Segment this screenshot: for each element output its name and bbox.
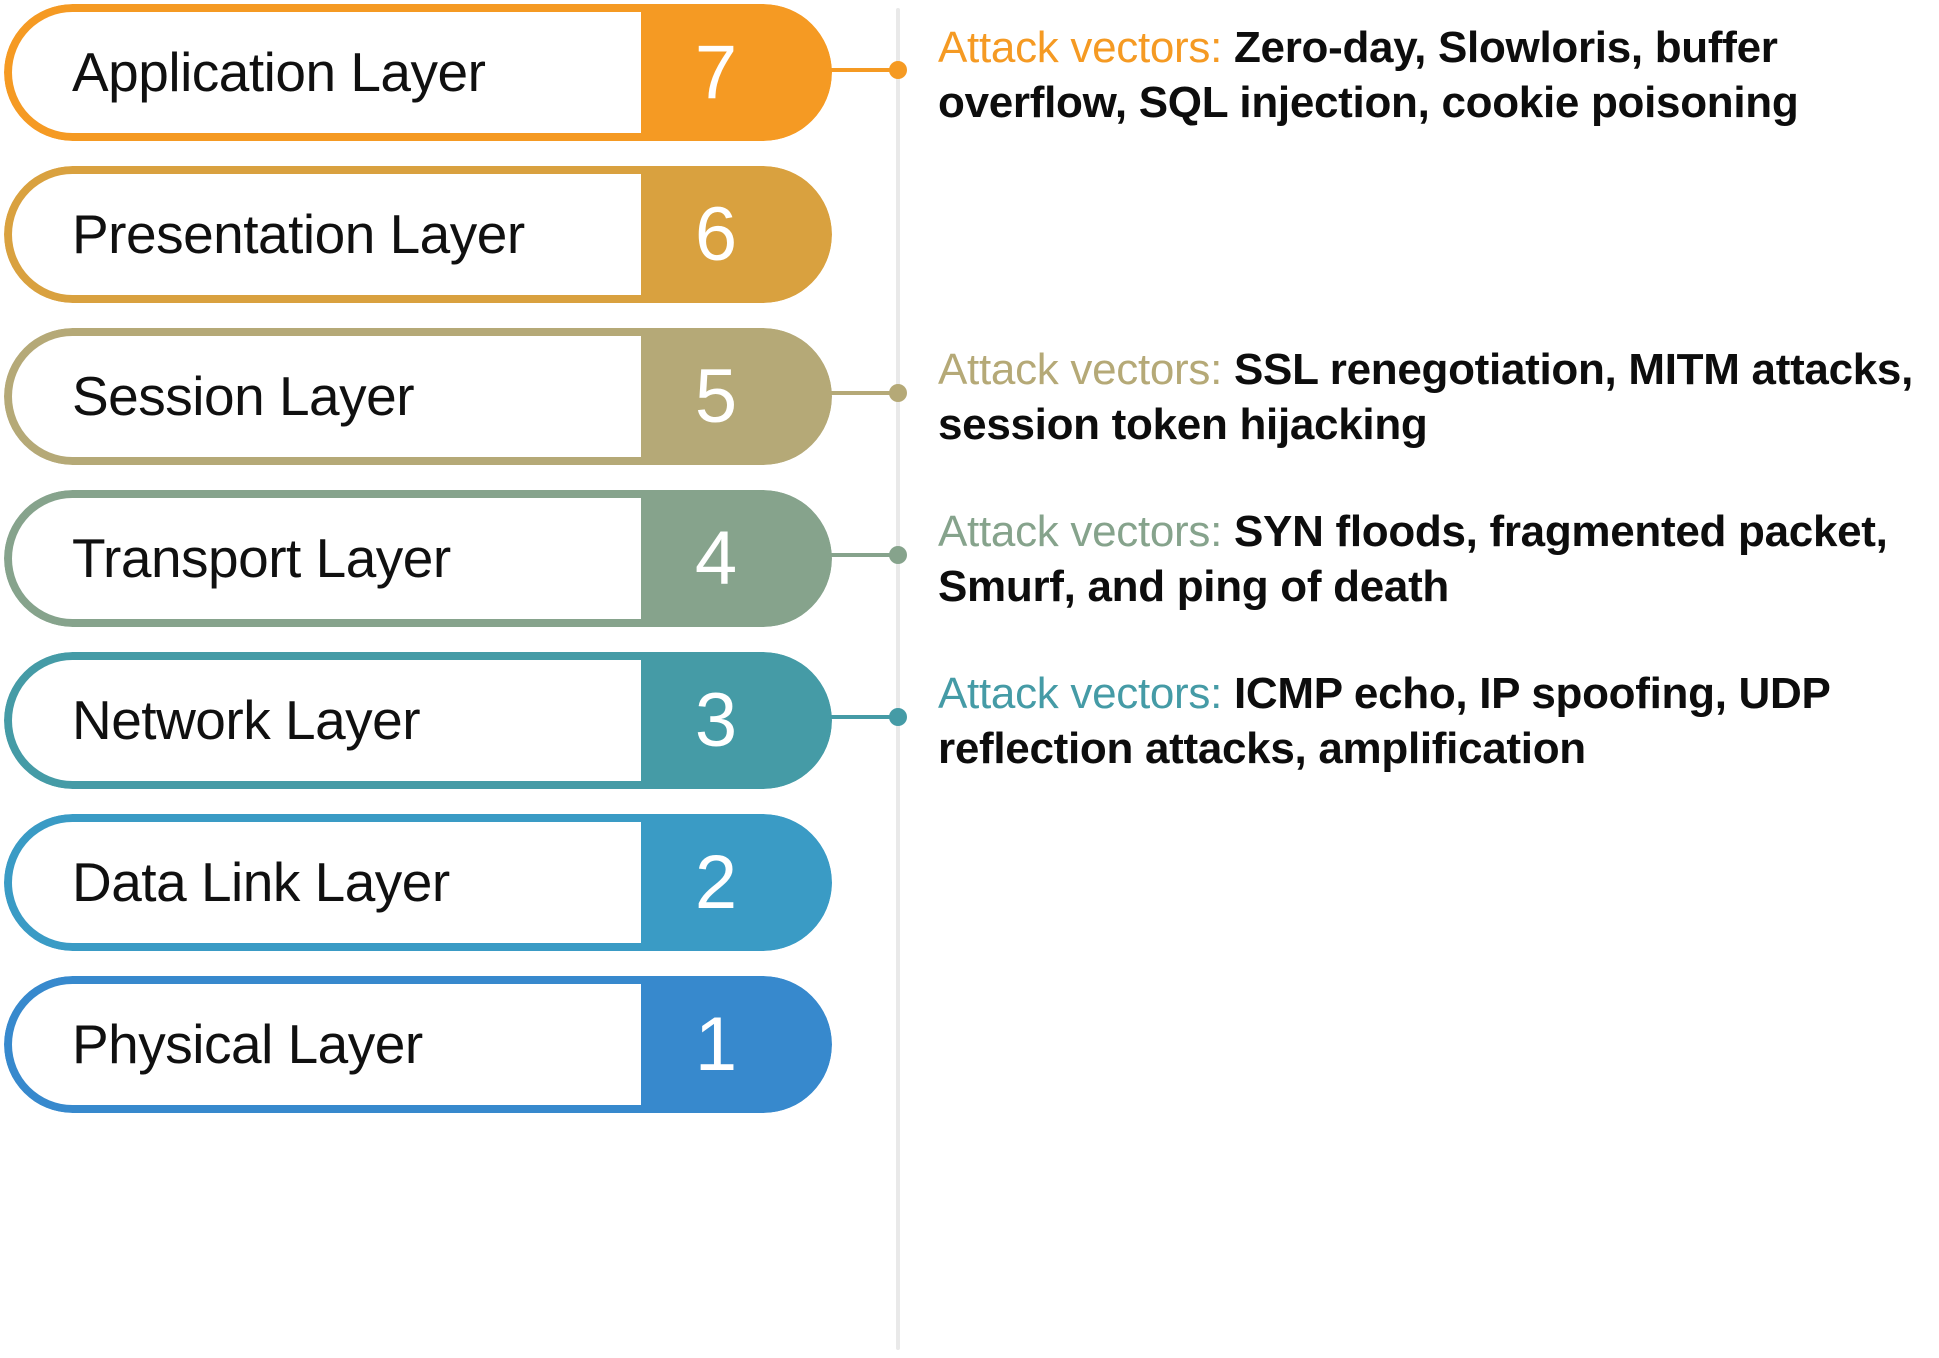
attack-vectors-label: Attack vectors: (938, 23, 1222, 72)
connector-network (800, 713, 898, 721)
layer-number-badge: 1 (641, 976, 791, 1113)
connector-transport (800, 551, 898, 559)
layer-number-badge: 5 (641, 328, 791, 465)
annotation-network: Attack vectors: ICMP echo, IP spoofing, … (938, 666, 1923, 777)
layer-label-plate: Session Layer (12, 336, 641, 457)
layer-name-label: Data Link Layer (12, 855, 450, 910)
layer-label-plate: Physical Layer (12, 984, 641, 1105)
layer-number-badge: 7 (641, 4, 791, 141)
connector-dot (889, 546, 907, 564)
attack-vectors-label: Attack vectors: (938, 669, 1222, 718)
layer-name-label: Application Layer (12, 45, 485, 100)
layer-pill-network[interactable]: Network Layer3 (4, 652, 832, 789)
layer-pill-application[interactable]: Application Layer7 (4, 4, 832, 141)
layer-pill-data-link[interactable]: Data Link Layer2 (4, 814, 832, 951)
layer-row-presentation[interactable]: Presentation Layer6 (4, 166, 832, 303)
layer-row-application[interactable]: Application Layer7 (4, 4, 832, 141)
layer-label-plate: Application Layer (12, 12, 641, 133)
connector-session (800, 389, 898, 397)
layer-label-plate: Presentation Layer (12, 174, 641, 295)
connector-line (800, 715, 898, 719)
connector-line (800, 68, 898, 72)
connector-dot (889, 708, 907, 726)
layer-name-label: Transport Layer (12, 531, 451, 586)
connector-dot (889, 384, 907, 402)
layer-number-badge: 4 (641, 490, 791, 627)
layer-name-label: Session Layer (12, 369, 414, 424)
layer-pill-presentation[interactable]: Presentation Layer6 (4, 166, 832, 303)
layer-label-plate: Transport Layer (12, 498, 641, 619)
vertical-divider-rail (896, 8, 900, 1350)
connector-dot (889, 61, 907, 79)
connector-line (800, 391, 898, 395)
layer-row-transport[interactable]: Transport Layer4 (4, 490, 832, 627)
attack-vectors-label: Attack vectors: (938, 507, 1222, 556)
layer-pill-transport[interactable]: Transport Layer4 (4, 490, 832, 627)
layer-number-badge: 6 (641, 166, 791, 303)
layer-pill-session[interactable]: Session Layer5 (4, 328, 832, 465)
layer-name-label: Network Layer (12, 693, 420, 748)
connector-application (800, 66, 898, 74)
annotation-transport: Attack vectors: SYN floods, fragmented p… (938, 504, 1923, 615)
layer-name-label: Presentation Layer (12, 207, 525, 262)
layer-row-physical[interactable]: Physical Layer1 (4, 976, 832, 1113)
layer-label-plate: Network Layer (12, 660, 641, 781)
layer-number-badge: 3 (641, 652, 791, 789)
connector-line (800, 553, 898, 557)
layer-row-network[interactable]: Network Layer3 (4, 652, 832, 789)
annotation-application: Attack vectors: Zero-day, Slowloris, buf… (938, 20, 1923, 131)
layer-name-label: Physical Layer (12, 1017, 423, 1072)
attack-vectors-label: Attack vectors: (938, 345, 1222, 394)
layer-pill-physical[interactable]: Physical Layer1 (4, 976, 832, 1113)
layer-row-session[interactable]: Session Layer5 (4, 328, 832, 465)
osi-attack-vectors-diagram: Application Layer7Presentation Layer6Ses… (0, 0, 1939, 1358)
layer-row-data-link[interactable]: Data Link Layer2 (4, 814, 832, 951)
layer-label-plate: Data Link Layer (12, 822, 641, 943)
layer-number-badge: 2 (641, 814, 791, 951)
annotation-session: Attack vectors: SSL renegotiation, MITM … (938, 342, 1923, 453)
